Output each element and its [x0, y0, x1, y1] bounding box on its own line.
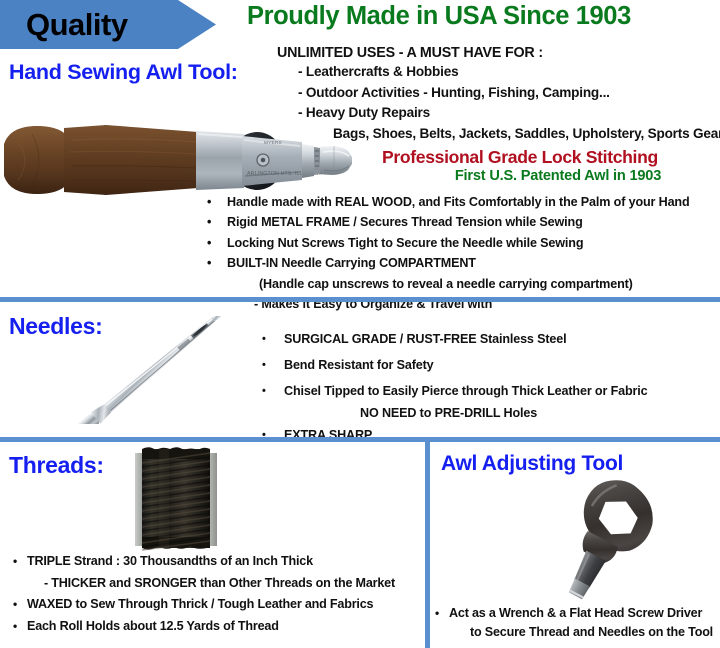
- bullet-icon: •: [207, 192, 211, 212]
- thread-spool-photo: [129, 447, 223, 551]
- section-divider: [0, 437, 720, 442]
- list-item: • BUILT-IN Needle Carrying COMPARTMENT: [204, 253, 720, 273]
- list-item-label: WAXED to Sew Through Thrick / Tough Leat…: [27, 597, 373, 611]
- list-item: • Act as a Wrench & a Flat Head Screw Dr…: [432, 604, 720, 623]
- list-item: • Rigid METAL FRAME / Secures Thread Ten…: [204, 212, 720, 232]
- list-item-label: TRIPLE Strand : 30 Thousandths of an Inc…: [27, 554, 313, 568]
- bullet-icon: •: [262, 379, 266, 404]
- list-item-label: Handle made with REAL WOOD, and Fits Com…: [227, 195, 690, 209]
- list-sub-line: NO NEED to PRE-DRILL Holes: [258, 404, 720, 422]
- list-item: • EXTRA SHARP: [258, 423, 720, 449]
- list-sub-line: (Handle cap unscrews to reveal a needle …: [204, 274, 720, 294]
- bullet-icon: •: [262, 353, 266, 378]
- list-sub-line: to Secure Thread and Needles on the Tool: [432, 623, 720, 642]
- bullet-icon: •: [13, 594, 17, 615]
- first-patent-subheadline: First U.S. Patented Awl in 1903: [396, 168, 720, 184]
- list-item-label: BUILT-IN Needle Carrying COMPARTMENT: [227, 256, 476, 270]
- list-item-label: Each Roll Holds about 12.5 Yards of Thre…: [27, 619, 279, 633]
- bullet-icon: •: [262, 327, 266, 352]
- list-item-label: SURGICAL GRADE / RUST-FREE Stainless Ste…: [284, 332, 566, 346]
- bullet-icon: •: [435, 604, 439, 623]
- list-item: • Each Roll Holds about 12.5 Yards of Th…: [10, 616, 425, 638]
- bullet-icon: •: [207, 212, 211, 232]
- awl-tool-photo: ARLINGTON HTS. ILL. U.S.A. MYERS: [2, 104, 362, 204]
- bullet-icon: •: [207, 253, 211, 273]
- needle-photo: [36, 316, 268, 424]
- page-title: Hand Sewing Awl Tool:: [9, 60, 238, 85]
- threads-section-title: Threads:: [9, 452, 104, 479]
- list-item: • TRIPLE Strand : 30 Thousandths of an I…: [10, 551, 425, 573]
- wrench-photo: [512, 474, 698, 604]
- unlimited-uses-title: UNLIMITED USES - A MUST HAVE FOR :: [277, 45, 720, 62]
- list-item-label: Bend Resistant for Safety: [284, 358, 434, 372]
- bullet-icon: •: [13, 616, 17, 637]
- awl-feature-list: • Handle made with REAL WOOD, and Fits C…: [204, 192, 720, 314]
- list-item: • Handle made with REAL WOOD, and Fits C…: [204, 192, 720, 212]
- list-item-label: Rigid METAL FRAME / Secures Thread Tensi…: [227, 215, 583, 229]
- quality-banner: Quality: [0, 0, 216, 49]
- use-line: - Leathercrafts & Hobbies: [277, 62, 720, 83]
- list-item-label: Act as a Wrench & a Flat Head Screw Driv…: [449, 606, 702, 620]
- made-in-usa-headline: Proudly Made in USA Since 1903: [247, 2, 717, 31]
- list-item: • Locking Nut Screws Tight to Secure the…: [204, 233, 720, 253]
- infographic-page: Quality Proudly Made in USA Since 1903 U…: [0, 0, 720, 648]
- professional-grade-headline: Professional Grade Lock Stitching: [382, 147, 720, 167]
- needles-feature-list: • SURGICAL GRADE / RUST-FREE Stainless S…: [258, 327, 720, 449]
- list-item-label: Locking Nut Screws Tight to Secure the N…: [227, 236, 583, 250]
- bullet-icon: •: [207, 233, 211, 253]
- vertical-divider: [425, 441, 430, 648]
- list-item: • Chisel Tipped to Easily Pierce through…: [258, 379, 720, 405]
- bullet-icon: •: [13, 551, 17, 572]
- quality-label: Quality: [0, 9, 128, 40]
- list-sub-line: - THICKER and SRONGER than Other Threads…: [10, 573, 425, 595]
- bullet-icon: •: [262, 423, 266, 448]
- svg-text:MYERS: MYERS: [264, 140, 282, 145]
- list-item: • Bend Resistant for Safety: [258, 353, 720, 379]
- adjusting-tool-section-title: Awl Adjusting Tool: [441, 452, 623, 476]
- section-divider: [0, 297, 720, 302]
- threads-feature-list: • TRIPLE Strand : 30 Thousandths of an I…: [10, 551, 425, 638]
- adjusting-tool-feature-list: • Act as a Wrench & a Flat Head Screw Dr…: [432, 604, 720, 641]
- list-item-label: Chisel Tipped to Easily Pierce through T…: [284, 384, 647, 398]
- list-item: • SURGICAL GRADE / RUST-FREE Stainless S…: [258, 327, 720, 353]
- list-item: • WAXED to Sew Through Thrick / Tough Le…: [10, 594, 425, 616]
- use-line: - Outdoor Activities - Hunting, Fishing,…: [277, 83, 720, 104]
